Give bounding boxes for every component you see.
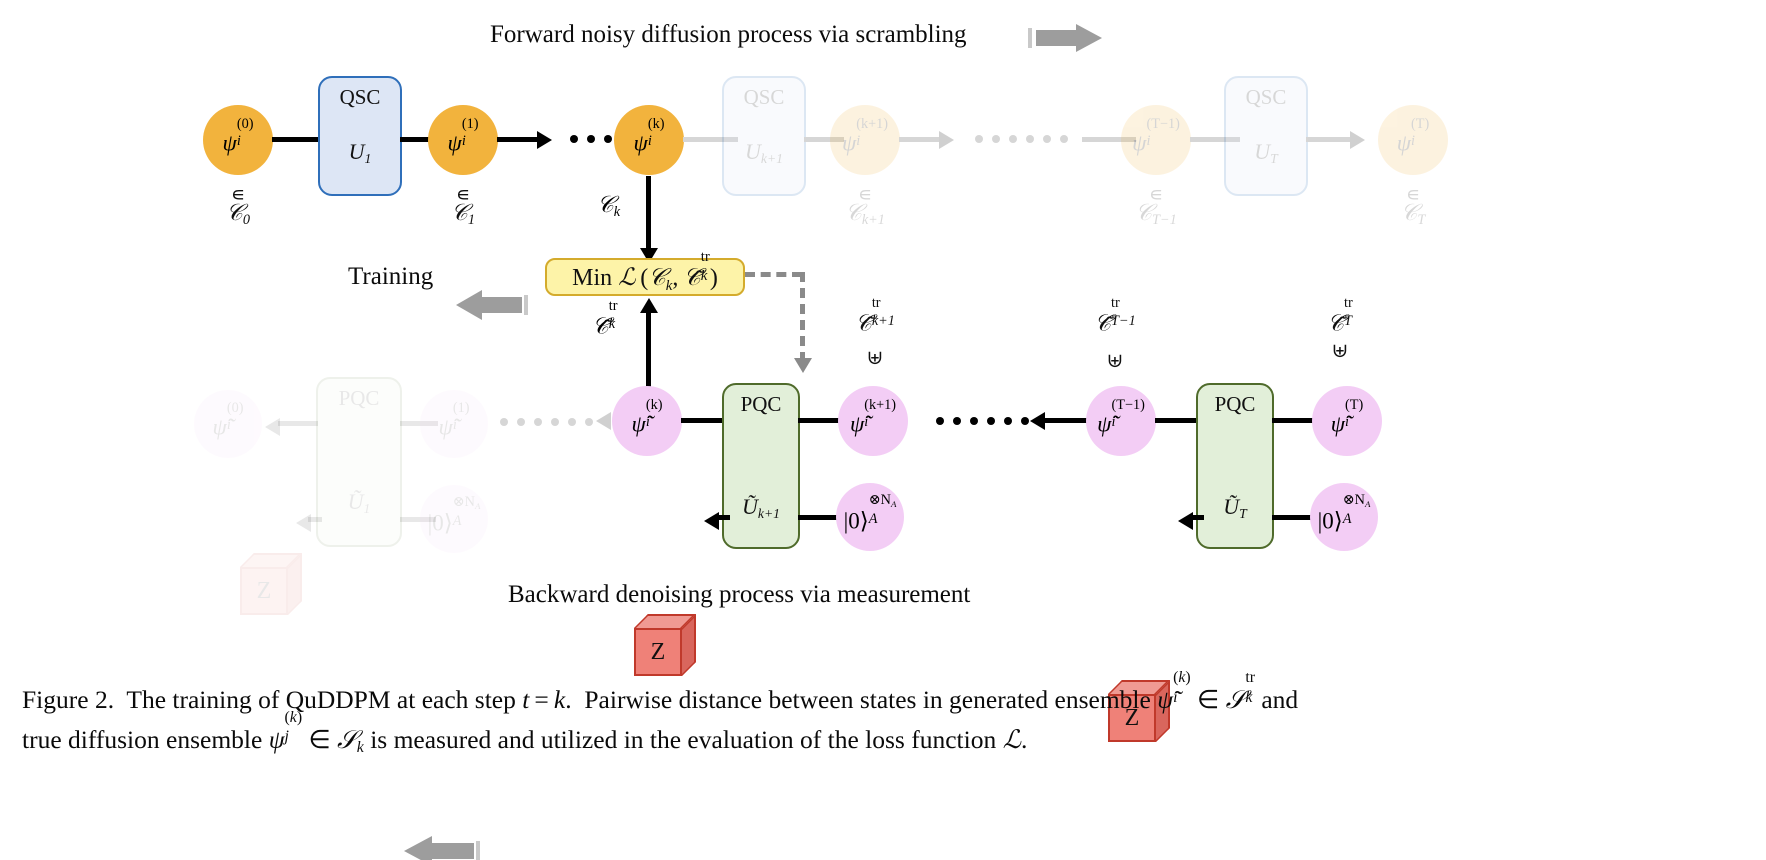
measure-wire-k-plus-1	[716, 515, 730, 520]
forward-state-label-T-minus-1: ψ(T−1)i	[1132, 125, 1180, 154]
backward-state-label-1: ψ̃(1)i	[439, 409, 470, 438]
forward-ellipsis-right	[975, 135, 1068, 143]
qsc-gate-k-plus-1[interactable]: QSC Uk+1	[722, 76, 806, 196]
pqc-gate-k-plus-1-title: PQC	[741, 392, 782, 417]
backward-member-symbol-T-minus-1: ⊎	[1060, 348, 1170, 373]
ancilla-label-1: |0⟩⊗NAA	[428, 504, 481, 534]
ancilla-node-T[interactable]: |0⟩⊗NAA	[1310, 483, 1378, 551]
sk-down-wire	[646, 176, 651, 252]
backward-state-node-T-minus-1[interactable]: ψ̃(T−1)i	[1086, 386, 1156, 456]
measurement-cube-k-plus-1[interactable]: Z	[634, 614, 700, 680]
qsc-gate-1-title: QSC	[340, 85, 381, 110]
forward-state-node-k[interactable]: ψ(k)i	[614, 105, 684, 175]
sk-edge-label: 𝒞k	[597, 192, 620, 221]
backward-state-label-k: ψ̃(k)i	[632, 406, 663, 435]
ancilla-label-k-plus-1: |0⟩⊗NAA	[844, 502, 897, 532]
qsc-gate-1[interactable]: QSC U1	[318, 76, 402, 196]
qsc-gate-k-plus-1-title: QSC	[744, 85, 785, 110]
backward-wire-k-plus-1	[798, 418, 842, 423]
feedback-dashed-horizontal	[745, 272, 802, 277]
qsc-gate-1-body: U1	[349, 139, 372, 167]
forward-state-label-1: ψ(1)i	[448, 125, 479, 154]
forward-process-label: Forward noisy diffusion process via scra…	[490, 21, 967, 49]
backward-state-node-1[interactable]: ψ̃(1)i	[420, 390, 488, 458]
training-label: Training	[348, 263, 433, 291]
backward-wire-k	[681, 418, 725, 423]
backward-arrowhead-T-minus-1	[1030, 412, 1045, 430]
forward-state-label-0: ψ(0)i	[223, 125, 254, 154]
backward-state-node-k[interactable]: ψ̃(k)i	[612, 386, 682, 456]
forward-ensemble-T-minus-1: 𝒞T−1	[1096, 200, 1216, 229]
forward-direction-arrow	[1036, 24, 1104, 52]
backward-measure-wire-1	[308, 517, 322, 522]
pqc-gate-k-plus-1[interactable]: PQC Ũk+1	[722, 383, 800, 549]
training-direction-arrow	[456, 290, 528, 320]
measure-wire-T	[1190, 515, 1204, 520]
forward-ensemble-1: 𝒞1	[408, 200, 518, 229]
backward-process-label: Backward denoising process via measureme…	[508, 581, 970, 609]
backward-state-label-k-plus-1: ψ̃(k+1)i	[850, 406, 896, 435]
ancilla-wire-k-plus-1	[798, 515, 840, 520]
backward-state-label-0: ψ̃(0)i	[213, 409, 244, 438]
forward-state-label-k-plus-1: ψ(k+1)i	[842, 125, 888, 154]
forward-arrowhead-2	[939, 131, 954, 149]
psi-glyph: ψ	[223, 131, 237, 156]
qsc-gate-T-body: UT	[1254, 139, 1277, 167]
measurement-cube-k-plus-1-face: Z	[634, 628, 682, 676]
backward-state-label-T: ψ̃(T)i	[1331, 406, 1364, 435]
forward-ensemble-T: 𝒞T	[1358, 200, 1468, 229]
backward-ellipsis-right	[936, 417, 1029, 425]
figure-root: Forward noisy diffusion process via scra…	[0, 0, 1766, 860]
backward-direction-arrow	[404, 836, 480, 860]
forward-state-node-k-plus-1[interactable]: ψ(k+1)i	[830, 105, 900, 175]
stk-edge-label: 𝒞̃trk	[592, 308, 618, 339]
forward-arrowhead-1	[537, 131, 552, 149]
backward-state-node-0[interactable]: ψ̃(0)i	[194, 390, 262, 458]
backward-ensemble-T-minus-1: 𝒞̃trT−1	[1060, 305, 1170, 336]
backward-member-symbol-k-plus-1: ⊎	[820, 345, 930, 370]
forward-state-label-k: ψ(k)i	[634, 125, 665, 154]
backward-ensemble-k-plus-1: 𝒞̃trk+1	[820, 305, 930, 336]
backward-state-node-T[interactable]: ψ̃(T)i	[1312, 386, 1382, 456]
forward-state-label-T: ψ(T)i	[1397, 125, 1430, 154]
figure-caption-line-2: true diffusion ensemble ψ(k)j ∈ 𝒮k is me…	[22, 720, 1748, 761]
backward-arrowhead-k	[596, 412, 611, 430]
pqc-gate-k-plus-1-body: Ũk+1	[742, 494, 780, 522]
forward-state-node-1[interactable]: ψ(1)i	[428, 105, 498, 175]
forward-state-node-T[interactable]: ψ(T)i	[1378, 105, 1448, 175]
feedback-arrowhead	[794, 358, 812, 373]
forward-state-node-0[interactable]: ψ(0)i	[203, 105, 273, 175]
loss-box-text: Min ℒ (𝒞k, 𝒞̃trk)	[572, 259, 718, 294]
backward-wire-T	[1272, 418, 1316, 423]
pqc-gate-T[interactable]: PQC ŨT	[1196, 383, 1274, 549]
feedback-dashed-vertical	[800, 272, 805, 362]
backward-state-label-T-minus-1: ψ̃(T−1)i	[1097, 406, 1145, 435]
forward-wire-0	[272, 137, 322, 142]
figure-caption-line-1: Figure 2. The training of QuDDPM at each…	[22, 680, 1748, 720]
measurement-cube-1[interactable]: Z	[240, 553, 306, 619]
forward-wire-8	[1306, 137, 1352, 142]
forward-wire-2	[497, 137, 539, 142]
forward-state-node-T-minus-1[interactable]: ψ(T−1)i	[1121, 105, 1191, 175]
pqc-gate-1-body: Ũ1	[348, 489, 371, 517]
backward-state-node-k-plus-1[interactable]: ψ̃(k+1)i	[838, 386, 908, 456]
pqc-gate-T-body: ŨT	[1223, 494, 1246, 522]
qsc-gate-T[interactable]: QSC UT	[1224, 76, 1308, 196]
qsc-gate-k-plus-1-body: Uk+1	[745, 139, 783, 167]
loss-function-box[interactable]: Min ℒ (𝒞k, 𝒞̃trk)	[545, 258, 745, 296]
pqc-gate-1-title: PQC	[339, 386, 380, 411]
stk-up-wire	[646, 312, 651, 387]
forward-wire-5	[899, 137, 941, 142]
backward-ensemble-T: 𝒞̃trT	[1285, 305, 1395, 336]
ancilla-node-k-plus-1[interactable]: |0⟩⊗NAA	[836, 483, 904, 551]
pqc-gate-1[interactable]: PQC Ũ1	[316, 377, 402, 547]
ancilla-node-1[interactable]: |0⟩⊗NAA	[420, 485, 488, 553]
forward-ensemble-k-plus-1: 𝒞k+1	[805, 200, 925, 229]
backward-wire-0	[278, 421, 318, 426]
measurement-cube-1-face: Z	[240, 567, 288, 615]
ancilla-wire-T	[1272, 515, 1314, 520]
ancilla-label-T: |0⟩⊗NAA	[1318, 502, 1371, 532]
forward-arrowhead-3	[1350, 131, 1365, 149]
qsc-gate-T-title: QSC	[1246, 85, 1287, 110]
backward-member-symbol-T: ⊎	[1285, 338, 1395, 363]
backward-ellipsis-left	[500, 418, 593, 426]
stk-up-arrowhead	[640, 298, 658, 313]
figure-caption: Figure 2. The training of QuDDPM at each…	[22, 680, 1748, 760]
forward-ensemble-0: 𝒞0	[183, 200, 293, 229]
pqc-gate-T-title: PQC	[1215, 392, 1256, 417]
